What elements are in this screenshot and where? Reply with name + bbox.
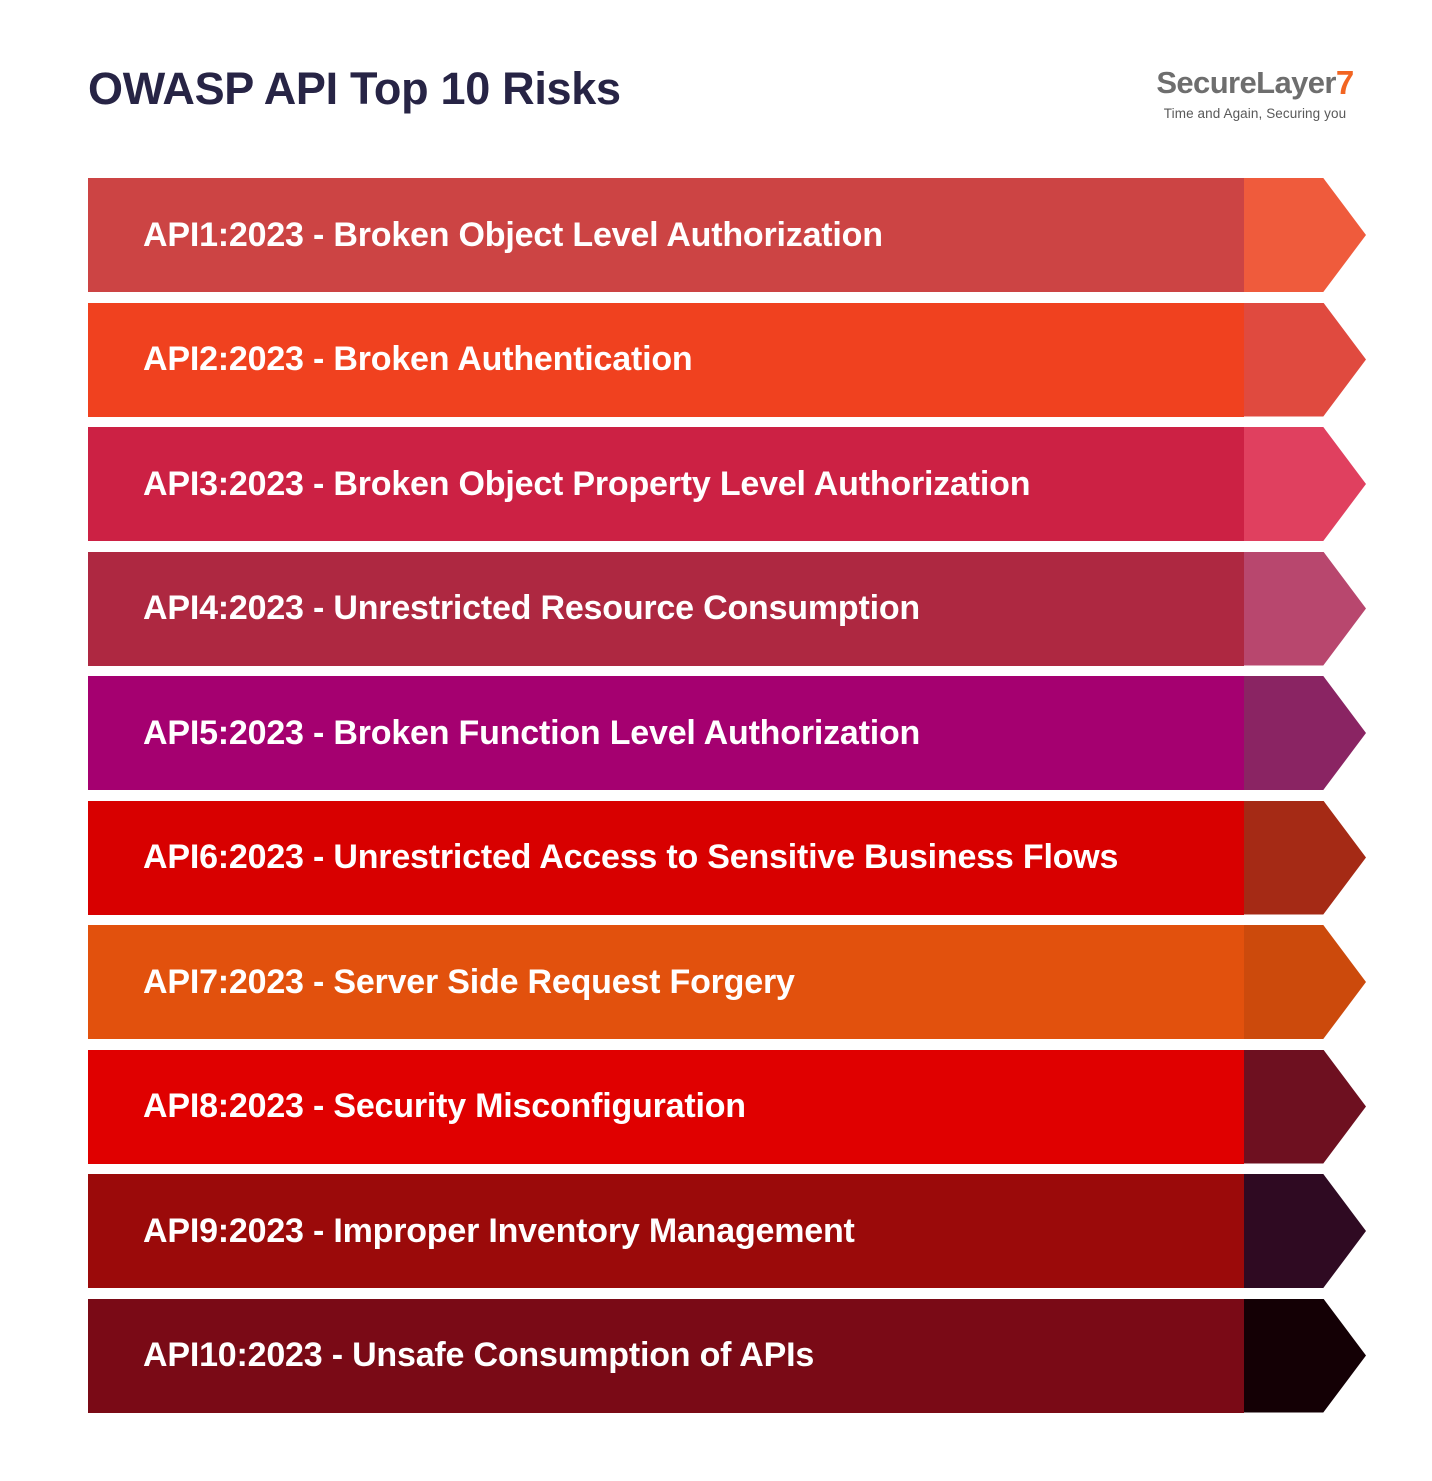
risk-label: API10:2023 - Unsafe Consumption of APIs xyxy=(143,1299,814,1413)
brand-wordmark: SecureLayer7 xyxy=(1140,66,1370,99)
page-title: OWASP API Top 10 Risks xyxy=(88,63,621,115)
risk-row[interactable]: API9:2023 - Improper Inventory Managemen… xyxy=(88,1174,1378,1288)
risk-bar-arrow-icon xyxy=(1244,1050,1366,1164)
risk-label: API9:2023 - Improper Inventory Managemen… xyxy=(143,1174,855,1288)
risk-label: API1:2023 - Broken Object Level Authoriz… xyxy=(143,178,883,292)
brand-name-main: SecureLayer xyxy=(1156,65,1336,100)
risk-bar-arrow-icon xyxy=(1244,427,1366,541)
risk-row[interactable]: API5:2023 - Broken Function Level Author… xyxy=(88,676,1378,790)
risk-bar-arrow-icon xyxy=(1244,552,1366,666)
risk-row[interactable]: API8:2023 - Security Misconfiguration xyxy=(88,1050,1378,1164)
risk-label: API4:2023 - Unrestricted Resource Consum… xyxy=(143,552,920,666)
risk-bar-arrow-icon xyxy=(1244,1174,1366,1288)
risk-label: API2:2023 - Broken Authentication xyxy=(143,303,692,417)
risk-bar-arrow-icon xyxy=(1244,1299,1366,1413)
risk-row[interactable]: API2:2023 - Broken Authentication xyxy=(88,303,1378,417)
risk-bar-arrow-icon xyxy=(1244,925,1366,1039)
risk-label: API3:2023 - Broken Object Property Level… xyxy=(143,427,1030,541)
risk-bar-arrow-icon xyxy=(1244,178,1366,292)
risk-label: API8:2023 - Security Misconfiguration xyxy=(143,1050,746,1164)
risk-bar-arrow-icon xyxy=(1244,801,1366,915)
risk-row[interactable]: API10:2023 - Unsafe Consumption of APIs xyxy=(88,1299,1378,1413)
risk-row[interactable]: API7:2023 - Server Side Request Forgery xyxy=(88,925,1378,1039)
risk-bar-arrow-icon xyxy=(1244,676,1366,790)
risk-row[interactable]: API6:2023 - Unrestricted Access to Sensi… xyxy=(88,801,1378,915)
risk-row[interactable]: API1:2023 - Broken Object Level Authoriz… xyxy=(88,178,1378,292)
brand-logo: SecureLayer7 Time and Again, Securing yo… xyxy=(1140,66,1370,121)
risk-label: API7:2023 - Server Side Request Forgery xyxy=(143,925,795,1039)
risk-row[interactable]: API3:2023 - Broken Object Property Level… xyxy=(88,427,1378,541)
risk-row[interactable]: API4:2023 - Unrestricted Resource Consum… xyxy=(88,552,1378,666)
brand-name-accent: 7 xyxy=(1336,64,1354,101)
risk-list: API1:2023 - Broken Object Level Authoriz… xyxy=(88,178,1378,1423)
brand-tagline: Time and Again, Securing you xyxy=(1140,106,1370,121)
risk-bar-arrow-icon xyxy=(1244,303,1366,417)
page-header: OWASP API Top 10 Risks SecureLayer7 Time… xyxy=(0,0,1432,178)
risk-label: API5:2023 - Broken Function Level Author… xyxy=(143,676,920,790)
risk-label: API6:2023 - Unrestricted Access to Sensi… xyxy=(143,801,1118,915)
